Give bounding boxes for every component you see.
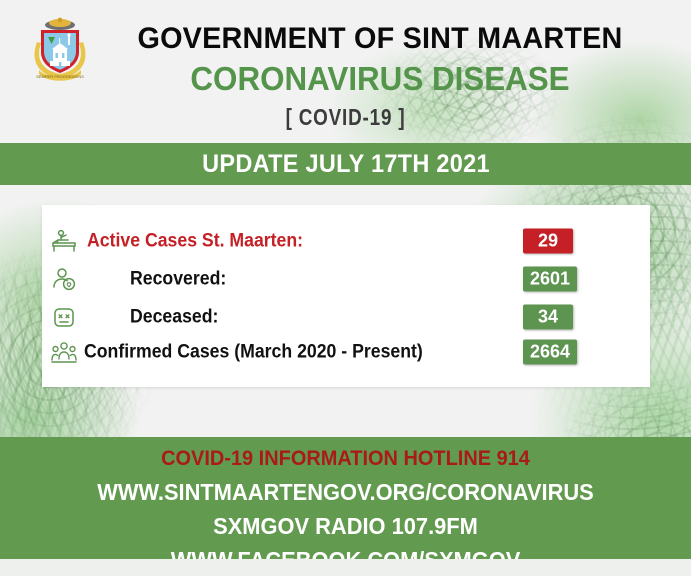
page-subtitle-covid19: [ COVID-19 ] xyxy=(62,106,629,129)
footer-radio-text: SXMGOV RADIO 107.9FM xyxy=(17,515,673,538)
page-title-government: GOVERNMENT OF SINT MAARTEN xyxy=(111,24,649,54)
poster-footer: COVID-19 INFORMATION HOTLINE 914 WWW.SIN… xyxy=(0,437,691,559)
footer-website-link[interactable]: WWW.SINTMAARTENGOV.ORG/CORONAVIRUS xyxy=(17,481,673,504)
stat-value-deceased: 34 xyxy=(523,304,573,329)
people-group-icon xyxy=(49,338,79,366)
stat-label-confirmed-cases: Confirmed Cases (March 2020 - Present) xyxy=(84,342,423,361)
stat-label-recovered: Recovered: xyxy=(130,269,226,288)
stat-label-active-cases: Active Cases St. Maarten: xyxy=(87,231,303,250)
page-title-coronavirus: CORONAVIRUS DISEASE xyxy=(114,62,646,95)
bottom-strip xyxy=(0,559,691,576)
poster-header: SEMPER PROGREDIENS GOVERNMENT OF SINT MA… xyxy=(0,0,691,143)
stat-label-deceased: Deceased: xyxy=(130,307,218,326)
statistics-panel: Active Cases St. Maarten: 29 Recovered: … xyxy=(42,205,650,387)
stat-value-active-cases: 29 xyxy=(523,228,573,253)
stat-value-recovered: 2601 xyxy=(523,266,577,291)
update-date-banner: UPDATE JULY 17TH 2021 xyxy=(0,143,691,185)
coat-of-arms-icon: SEMPER PROGREDIENS xyxy=(29,16,91,88)
deceased-face-icon xyxy=(49,303,79,331)
svg-text:SEMPER PROGREDIENS: SEMPER PROGREDIENS xyxy=(36,74,84,79)
update-date-text: UPDATE JULY 17TH 2021 xyxy=(202,150,490,179)
stat-row-active-cases: Active Cases St. Maarten: 29 xyxy=(42,224,650,257)
hospital-bed-patient-icon xyxy=(49,227,79,255)
covid-update-poster: SEMPER PROGREDIENS GOVERNMENT OF SINT MA… xyxy=(0,0,691,576)
stat-value-confirmed-cases: 2664 xyxy=(523,339,577,364)
stat-row-deceased: Deceased: 34 xyxy=(42,300,650,333)
person-recovered-heart-icon xyxy=(49,265,79,293)
stat-row-confirmed-cases: Confirmed Cases (March 2020 - Present) 2… xyxy=(42,335,650,368)
footer-hotline-text: COVID-19 INFORMATION HOTLINE 914 xyxy=(17,448,673,469)
stat-row-recovered: Recovered: 2601 xyxy=(42,262,650,295)
